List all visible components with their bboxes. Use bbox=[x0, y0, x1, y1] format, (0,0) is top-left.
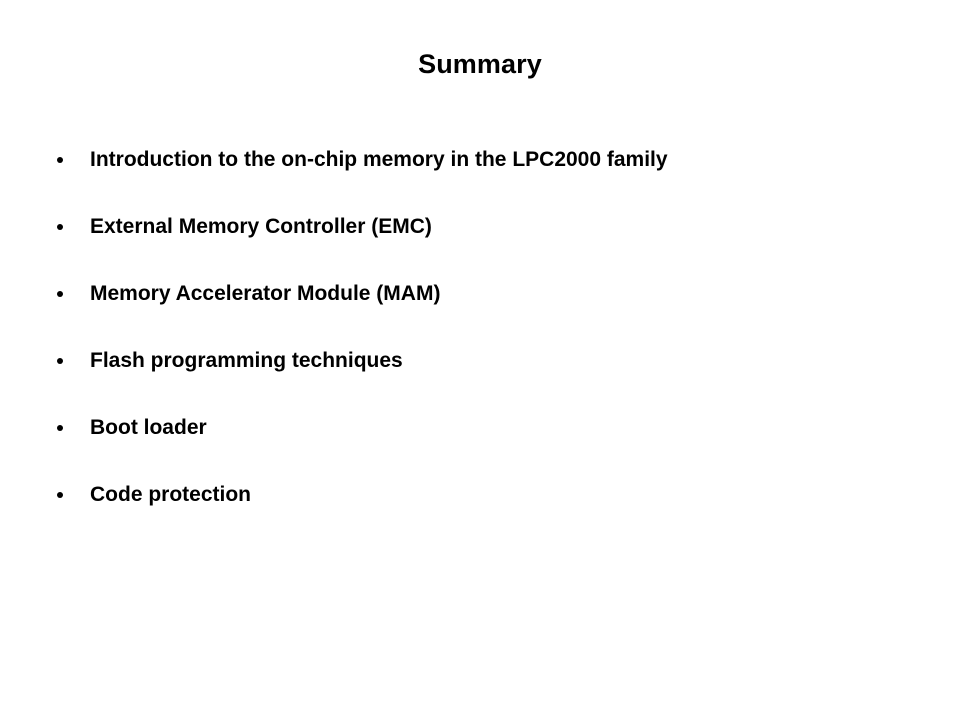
list-item-label: Boot loader bbox=[90, 414, 207, 442]
list-item-label: External Memory Controller (EMC) bbox=[90, 213, 432, 241]
slide-title: Summary bbox=[0, 51, 960, 78]
bullet-dot-icon bbox=[57, 291, 63, 297]
list-item: Code protection bbox=[0, 481, 960, 548]
list-item: External Memory Controller (EMC) bbox=[0, 213, 960, 280]
bullet-dot-icon bbox=[57, 157, 63, 163]
list-item-label: Memory Accelerator Module (MAM) bbox=[90, 280, 440, 308]
list-item: Memory Accelerator Module (MAM) bbox=[0, 280, 960, 347]
list-item: Flash programming techniques bbox=[0, 347, 960, 414]
list-item-label: Introduction to the on-chip memory in th… bbox=[90, 146, 668, 174]
list-item: Introduction to the on-chip memory in th… bbox=[0, 146, 960, 213]
bullet-dot-icon bbox=[57, 358, 63, 364]
list-item: Boot loader bbox=[0, 414, 960, 481]
list-item-label: Flash programming techniques bbox=[90, 347, 403, 375]
summary-bullet-list: Introduction to the on-chip memory in th… bbox=[0, 146, 960, 548]
bullet-dot-icon bbox=[57, 425, 63, 431]
presentation-slide: Summary Introduction to the on-chip memo… bbox=[0, 0, 960, 720]
bullet-dot-icon bbox=[57, 224, 63, 230]
bullet-dot-icon bbox=[57, 492, 63, 498]
list-item-label: Code protection bbox=[90, 481, 251, 509]
